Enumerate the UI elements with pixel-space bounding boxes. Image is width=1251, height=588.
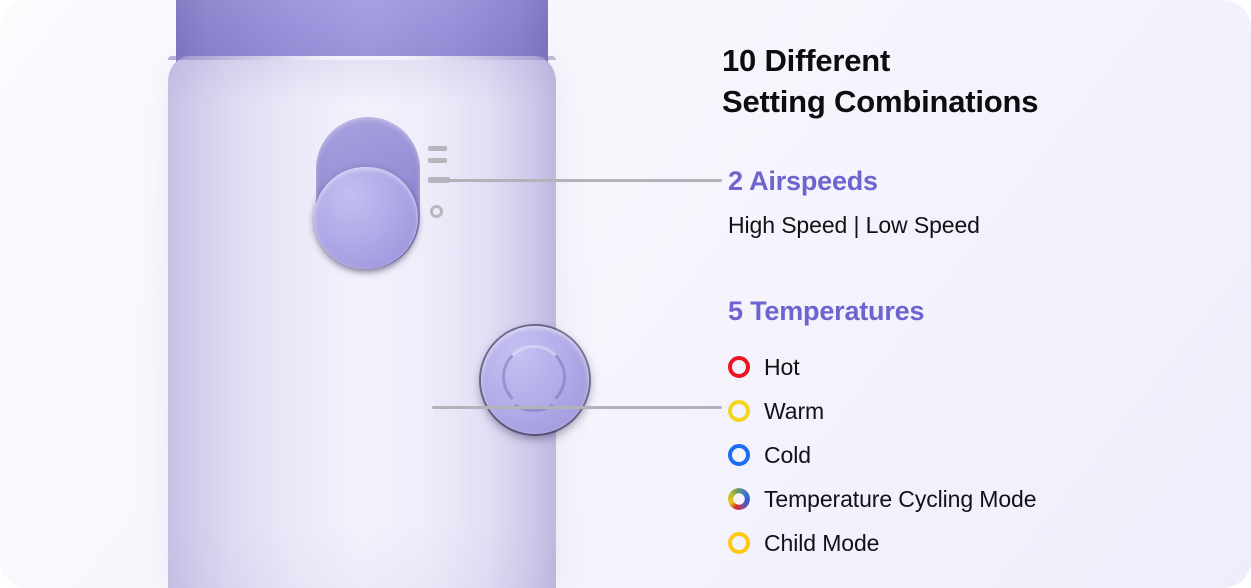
page-title-line-1: 10 Different [722, 40, 1038, 81]
list-item: Hot [728, 345, 1248, 389]
list-item: Temperature Cycling Mode [728, 477, 1248, 521]
product-image [0, 0, 700, 588]
temperature-mode-button[interactable] [481, 326, 589, 434]
info-panel: 10 Different Setting Combinations 2 Airs… [722, 0, 1251, 588]
infographic-card: 10 Different Setting Combinations 2 Airs… [0, 0, 1251, 588]
temperature-cycling-ring-icon [728, 488, 750, 510]
temperature-label: Hot [764, 354, 800, 381]
page-title: 10 Different Setting Combinations [722, 40, 1038, 122]
airspeed-slider-knob[interactable] [314, 167, 418, 269]
high-speed-mark-lower-icon [428, 158, 447, 163]
temperature-label: Warm [764, 398, 824, 425]
temperature-ring-icon [728, 400, 750, 422]
temperature-ring-icon [728, 532, 750, 554]
device-seam [168, 56, 556, 60]
temperature-label: Child Mode [764, 530, 879, 557]
power-off-mark-icon [430, 205, 443, 218]
page-title-line-2: Setting Combinations [722, 81, 1038, 122]
temperature-label: Cold [764, 442, 811, 469]
list-item: Child Mode [728, 521, 1248, 565]
list-item: Warm [728, 389, 1248, 433]
temperature-list: Hot Warm Cold Temperature Cycling Mode C… [728, 345, 1248, 565]
temperature-ring-icon [728, 444, 750, 466]
leader-line-airspeeds [433, 179, 722, 182]
temperature-label: Temperature Cycling Mode [764, 486, 1036, 513]
airspeeds-heading: 2 Airspeeds [728, 166, 878, 197]
airspeeds-options: High Speed | Low Speed [728, 212, 980, 239]
leader-line-temperatures [432, 406, 722, 409]
hair-dryer-device [168, 0, 556, 588]
temperatures-heading: 5 Temperatures [728, 296, 924, 327]
temperature-ring-icon [728, 356, 750, 378]
airspeed-slider-switch[interactable] [316, 117, 420, 269]
list-item: Cold [728, 433, 1248, 477]
high-speed-mark-upper-icon [428, 146, 447, 151]
